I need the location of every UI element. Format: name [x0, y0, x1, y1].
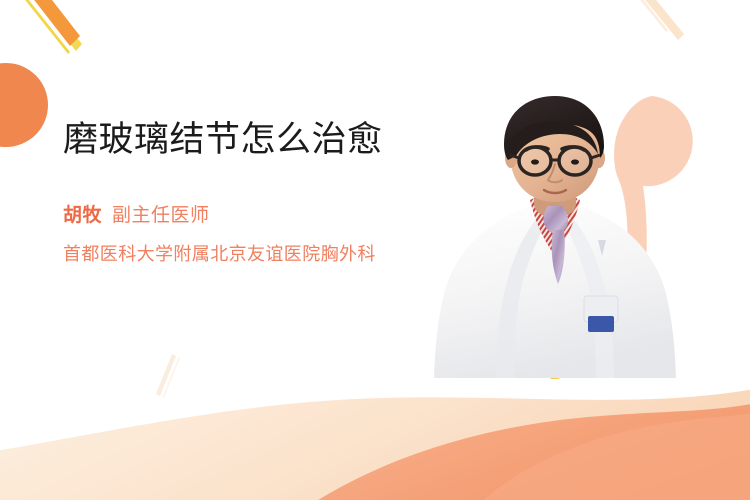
id-badge [588, 316, 614, 332]
doctor-name: 胡牧 [63, 205, 102, 226]
top-left-diagonal-stripes [22, 0, 82, 54]
byline: 胡牧副主任医师 [63, 205, 413, 228]
health-content-card: 磨玻璃结节怎么治愈 胡牧副主任医师 首都医科大学附属北京友谊医院胸外科 [0, 0, 750, 500]
page-title: 磨玻璃结节怎么治愈 [63, 118, 393, 163]
mid-diagonal-stripe [156, 354, 180, 398]
doctor-portrait [430, 78, 680, 378]
top-right-diagonal-stripes [632, 0, 684, 40]
orange-circle [0, 63, 48, 147]
doctor-title: 副主任医师 [112, 205, 210, 226]
text-block: 磨玻璃结节怎么治愈 胡牧副主任医师 首都医科大学附属北京友谊医院胸外科 [63, 118, 413, 267]
bottom-wave-light [0, 388, 750, 500]
bottom-wave-highlight [470, 412, 750, 500]
doctor-affiliation: 首都医科大学附属北京友谊医院胸外科 [63, 241, 393, 267]
bottom-wave-dark [300, 402, 750, 500]
